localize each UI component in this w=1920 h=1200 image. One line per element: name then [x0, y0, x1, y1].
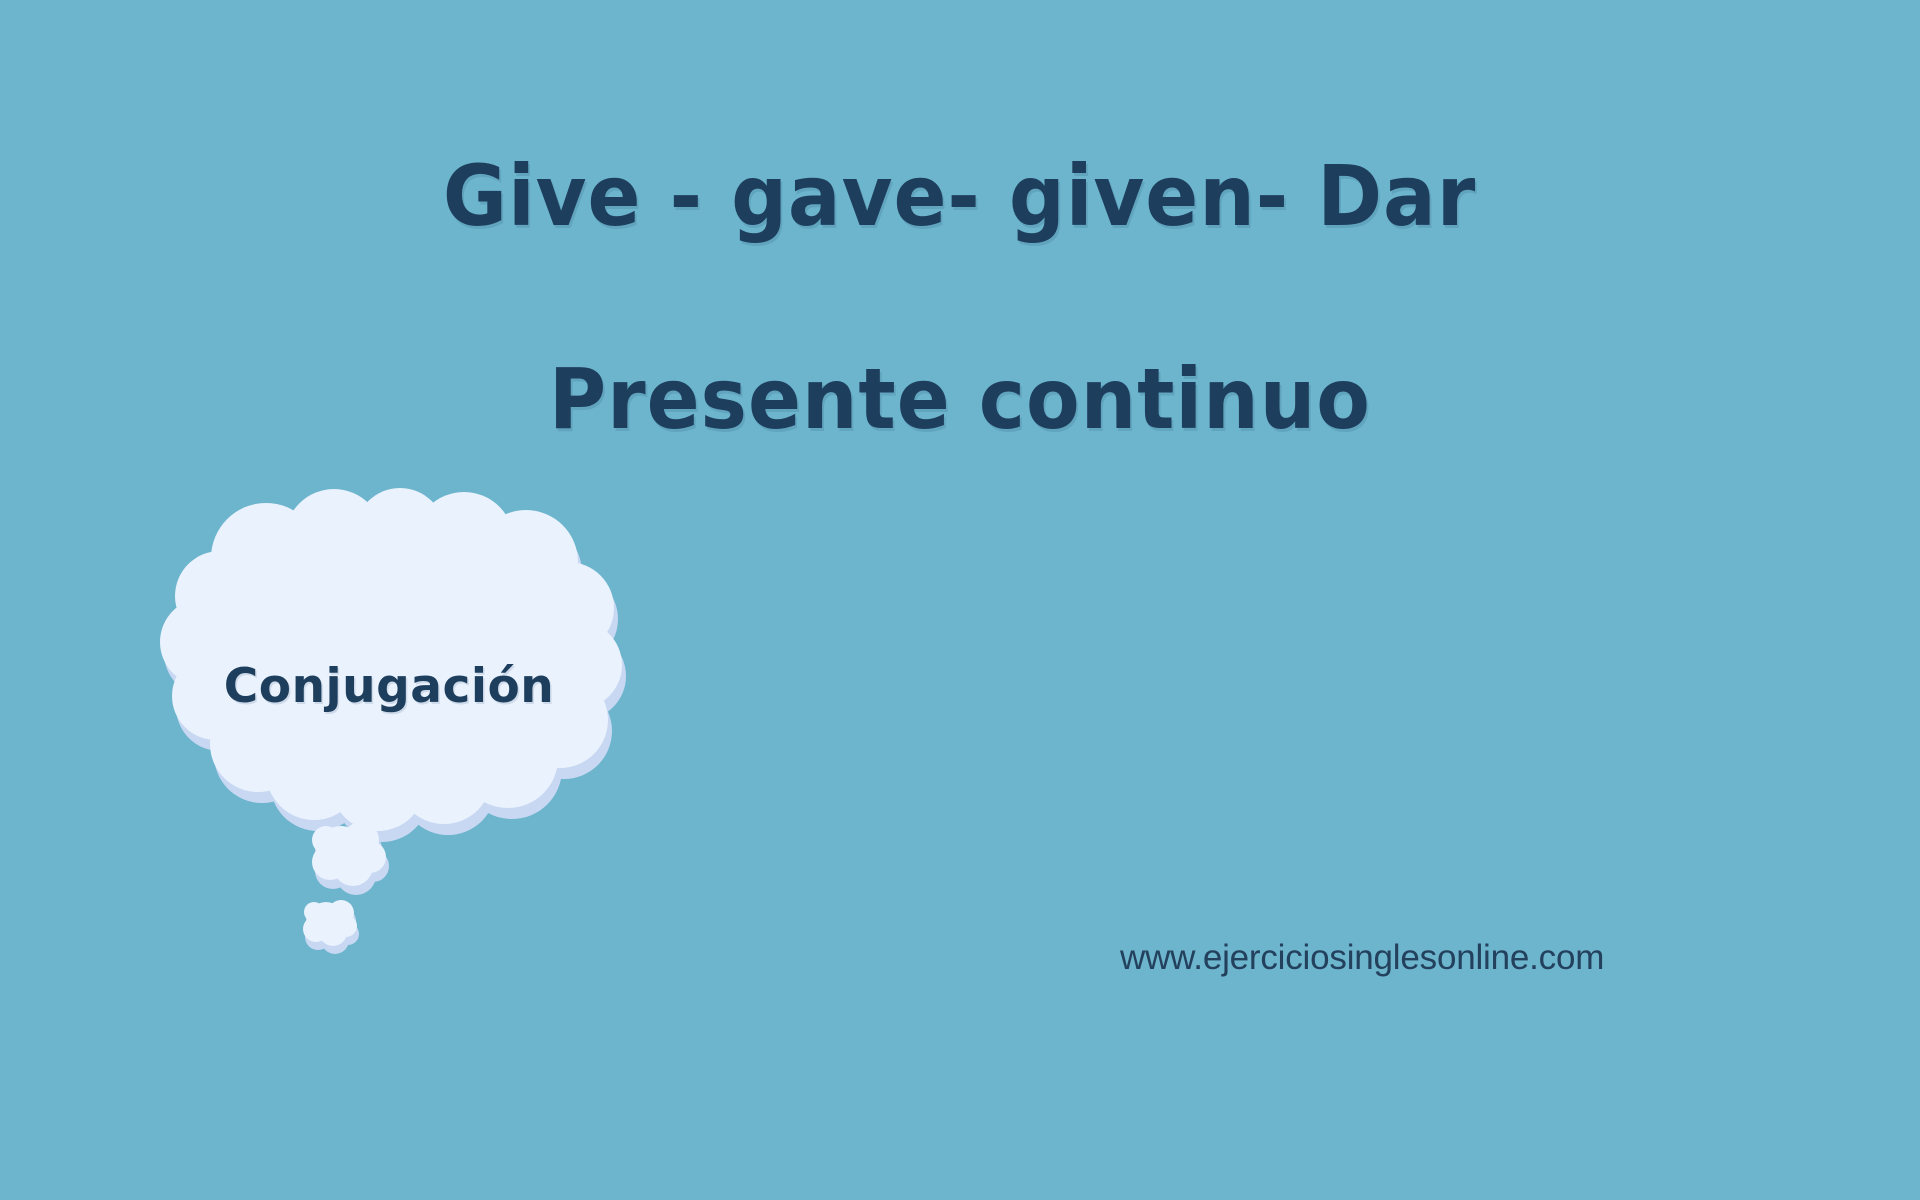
thought-bubble: Conjugación	[148, 500, 618, 830]
title-line: Give - gave- given- Dar	[0, 152, 1920, 240]
tail-puff-small	[303, 900, 359, 954]
page-subtitle: Presente continuo	[549, 355, 1371, 443]
slide-canvas: Give - gave- given- Dar Presente continu…	[0, 0, 1920, 1200]
thought-bubble-label: Conjugación	[224, 659, 554, 714]
thought-bubble-label-wrap: Conjugación	[148, 500, 618, 830]
site-url: www.ejerciciosinglesonline.com	[1120, 938, 1604, 978]
page-title: Give - gave- given- Dar	[443, 152, 1476, 240]
subtitle-line: Presente continuo	[0, 355, 1920, 443]
